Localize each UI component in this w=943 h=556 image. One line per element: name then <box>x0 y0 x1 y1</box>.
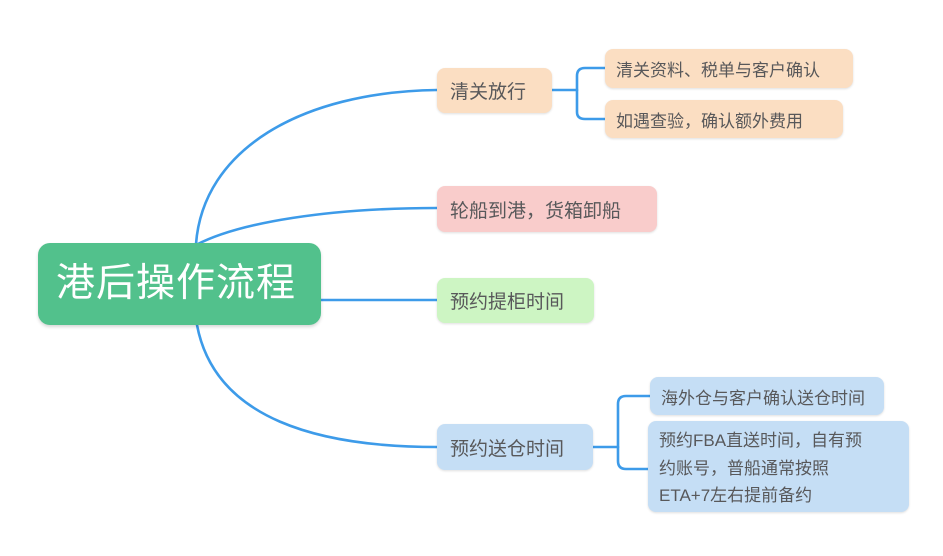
root-label: 港后操作流程 <box>56 262 303 307</box>
leaf-label: 预约FBA直送时间，自有预 约账号，普船通常按照 ETA+7左右提前备约 <box>659 427 898 510</box>
branch-label: 轮船到港，货箱卸船 <box>450 196 644 223</box>
edge-root-to-branch-1 <box>196 90 437 244</box>
branch-node-warehouse-delivery[interactable]: 预约送仓时间 <box>437 424 593 470</box>
leaf-label: 清关资料、税单与客户确认 <box>616 56 842 81</box>
edge-branch-4-bracket <box>618 396 650 469</box>
branch-node-vessel-arrival[interactable]: 轮船到港，货箱卸船 <box>437 186 657 232</box>
branch-label: 预约送仓时间 <box>450 434 580 461</box>
mindmap-root-node[interactable]: 港后操作流程 <box>38 243 321 325</box>
leaf-node-inspection-fee[interactable]: 如遇查验，确认额外费用 <box>605 100 843 138</box>
edge-root-to-branch-2 <box>196 208 437 245</box>
leaf-node-customs-documents[interactable]: 清关资料、税单与客户确认 <box>605 49 853 88</box>
leaf-label: 如遇查验，确认额外费用 <box>616 107 832 132</box>
leaf-node-overseas-warehouse[interactable]: 海外仓与客户确认送仓时间 <box>650 377 884 415</box>
leaf-node-fba-appointment[interactable]: 预约FBA直送时间，自有预 约账号，普船通常按照 ETA+7左右提前备约 <box>648 421 909 512</box>
edge-root-to-branch-4 <box>197 325 437 447</box>
edge-branch-1-bracket <box>577 68 605 119</box>
mindmap-canvas: 港后操作流程 清关放行 清关资料、税单与客户确认 如遇查验，确认额外费用 轮船到… <box>0 0 943 556</box>
branch-label: 清关放行 <box>450 77 539 104</box>
branch-node-customs-clearance[interactable]: 清关放行 <box>437 68 552 113</box>
branch-node-container-pickup[interactable]: 预约提柜时间 <box>437 278 594 323</box>
leaf-label: 海外仓与客户确认送仓时间 <box>661 384 873 409</box>
branch-label: 预约提柜时间 <box>450 287 581 314</box>
